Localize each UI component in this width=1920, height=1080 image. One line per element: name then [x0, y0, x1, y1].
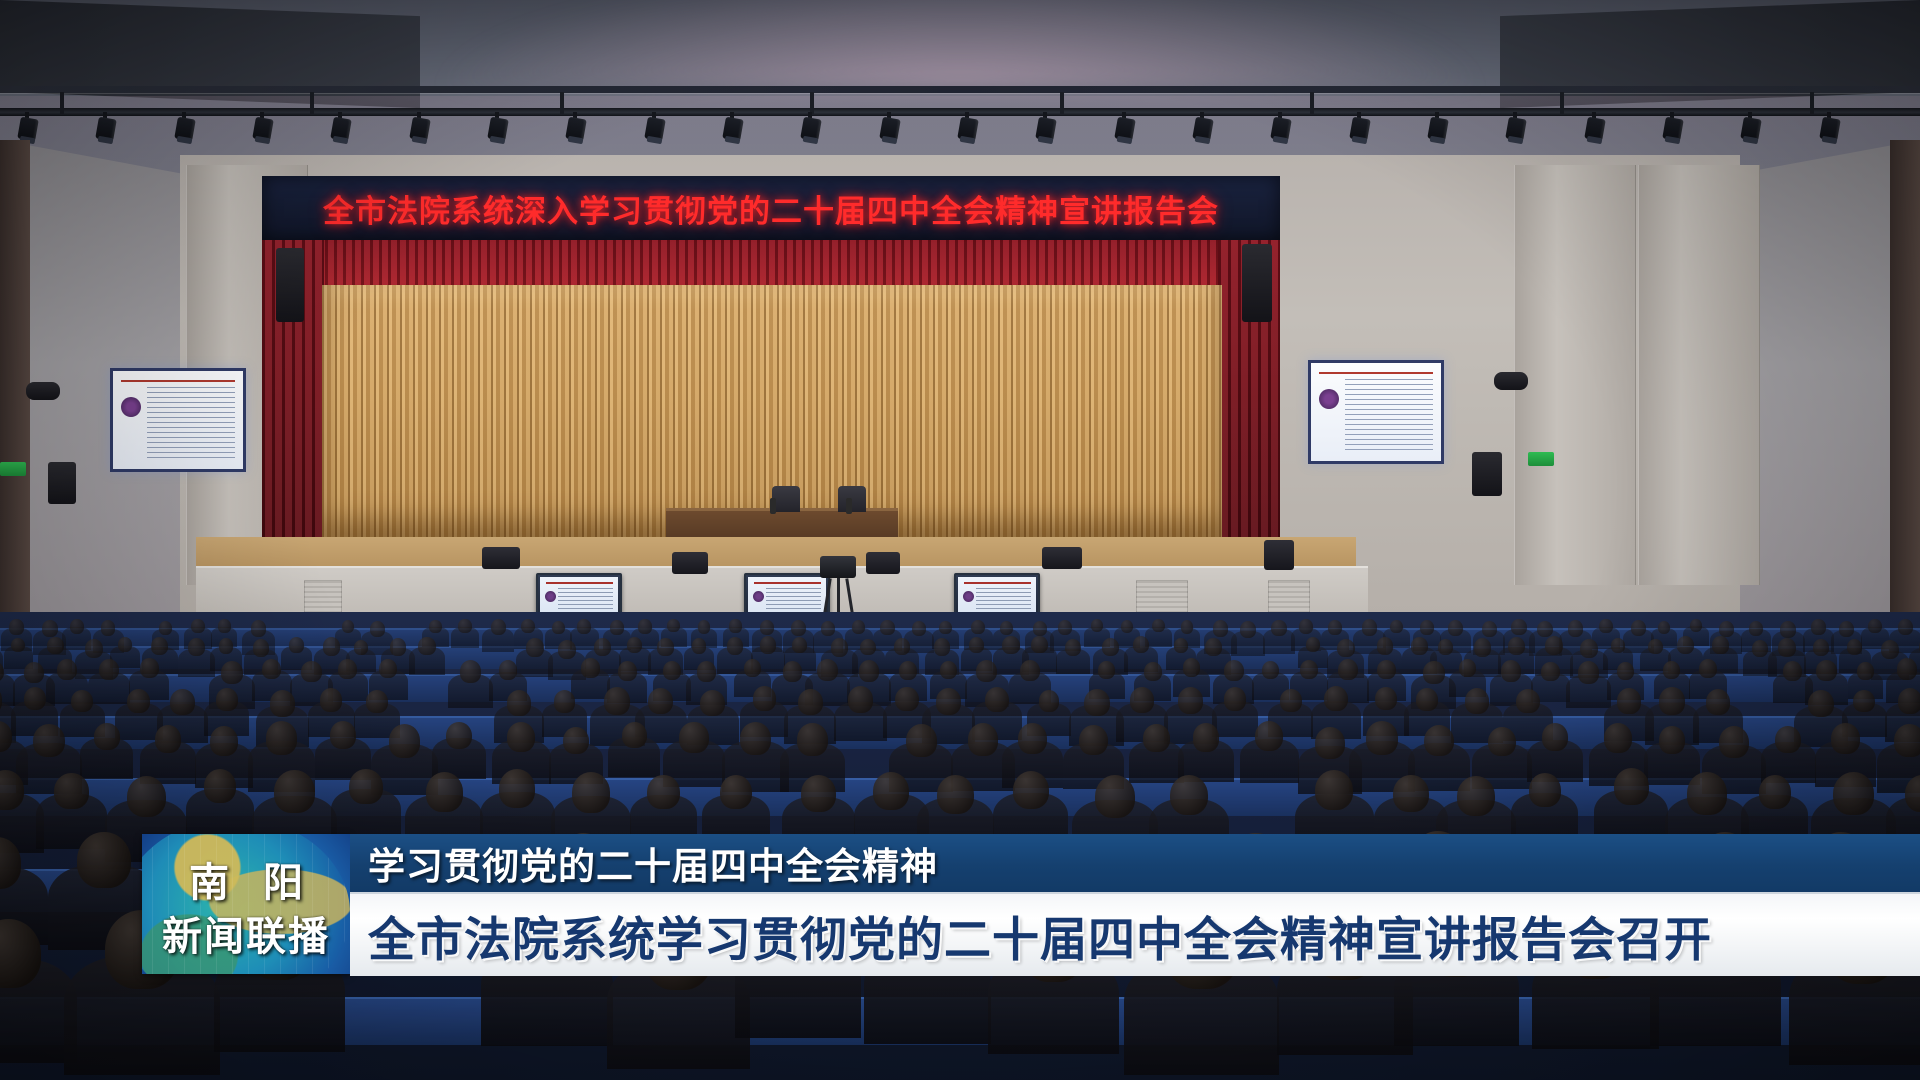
audience-member-head [976, 660, 997, 682]
audience-member-head [1271, 620, 1286, 636]
audience-member-head [1537, 621, 1553, 638]
slide-text-lines [147, 387, 235, 461]
audience-member-head [783, 661, 803, 682]
audience-member-head [370, 621, 385, 637]
audience-member-head [1079, 725, 1108, 756]
headline-text: 全市法院系统学习贯彻党的二十届四中全会精神宣讲报告会召开 [368, 901, 1712, 970]
audience-member-head [446, 722, 472, 749]
audience-member-head [491, 619, 506, 635]
truss-hanger [1810, 92, 1814, 114]
audience-member-head [1300, 660, 1318, 679]
stage-light [253, 112, 273, 146]
audience-member-head [191, 619, 204, 633]
audience-member-head [667, 619, 679, 632]
headline-bar: 全市法院系统学习贯彻党的二十届四中全会精神宣讲报告会召开 [350, 892, 1920, 976]
audience-member-head [798, 689, 823, 715]
audience-member-head [1438, 639, 1453, 655]
audience-member-head [1677, 636, 1694, 654]
stage-light [175, 112, 195, 146]
audience-member-head [1511, 619, 1526, 635]
audience-member-head [71, 690, 92, 713]
audience-member-head [1868, 619, 1882, 633]
audience-member-head [817, 659, 838, 682]
audience-member-head [1831, 723, 1860, 754]
audience-member-head [622, 722, 647, 748]
stage-light [331, 112, 351, 146]
audience-member-head [552, 621, 565, 634]
apron-vent-3 [1136, 580, 1188, 616]
audience-member-head [1183, 658, 1200, 676]
audience-member-head [389, 724, 421, 757]
audience-member-head [526, 638, 544, 657]
audience-member-head [251, 620, 267, 636]
audience-member-head [379, 659, 397, 678]
audience-member-head [577, 619, 591, 634]
audience-member-head [1783, 661, 1802, 681]
apron-vent-4 [1268, 580, 1310, 616]
audience-member-head [70, 619, 84, 634]
audience-member-head [760, 636, 776, 653]
audience-member-head [1213, 620, 1228, 636]
audience-member-head [151, 637, 168, 655]
audience-member-head [1084, 689, 1110, 717]
audience-member-head [968, 723, 999, 756]
audience-member-head [47, 637, 63, 654]
audience-member-head [912, 621, 926, 636]
audience-member-head [1375, 687, 1397, 710]
stage-light [566, 112, 586, 146]
audience-member-head [1749, 621, 1763, 636]
speaker-right-wall [1472, 452, 1502, 496]
audience-member-head [54, 773, 88, 809]
audience-member-head [1611, 638, 1626, 653]
audience-member-head [24, 687, 46, 711]
audience-member-head [77, 832, 130, 889]
audience-member-head [753, 686, 776, 710]
audience-member-head [697, 661, 717, 682]
audience-member-head [1808, 690, 1834, 717]
audience-member-head [101, 620, 116, 636]
audience-member-head [1599, 619, 1612, 633]
audience-member-head [899, 661, 917, 680]
audience-member-head [521, 619, 535, 634]
audience-member-head [852, 620, 865, 634]
audience-member-head [1306, 637, 1320, 652]
audience-member-head [554, 690, 575, 712]
audience-member-head [1813, 639, 1829, 656]
stage-light [1585, 112, 1605, 146]
audience-member-head [1020, 660, 1040, 681]
slide-text-lines [1345, 379, 1433, 453]
audience-member-head [937, 775, 974, 814]
audience-member-head [507, 690, 531, 715]
audience-member-head [971, 620, 985, 635]
audience-member-head [1712, 636, 1729, 654]
audience-member-head [1516, 689, 1539, 714]
audience-member-head [1847, 639, 1862, 655]
stage-light [1115, 112, 1135, 146]
audience-member-head [1420, 620, 1434, 635]
audience-member-head [499, 769, 535, 807]
audience-member-head [1659, 726, 1685, 754]
audience-member-head [1033, 621, 1047, 636]
audience-member-head [939, 621, 952, 634]
audience-member-head [1362, 619, 1378, 636]
audience-member-head [338, 659, 357, 679]
audience-member-head [638, 619, 651, 633]
emblem-icon [753, 591, 764, 602]
stage-banner: 全市法院系统深入学习贯彻党的二十届四中全会精神宣讲报告会 [262, 176, 1280, 240]
topic-bar: 学习贯彻党的二十届四中全会精神 [350, 834, 1920, 892]
audience-member-head [221, 661, 243, 684]
audience-member-head [1780, 621, 1796, 638]
audience-member-head [1663, 661, 1680, 679]
truss-hanger [810, 92, 814, 114]
audience-member-head [1091, 619, 1103, 632]
audience-member-head [698, 620, 710, 633]
audience-member-head [1058, 620, 1072, 635]
audience-member-head [740, 722, 772, 756]
stage-light [1036, 112, 1056, 146]
truss-hanger [310, 92, 314, 114]
audience-member-head [85, 639, 103, 658]
audience-member-head [204, 769, 236, 803]
audience-member-head [9, 619, 24, 634]
audience-member-head [1121, 620, 1134, 633]
audience-member-head [801, 775, 836, 812]
side-screen-right [1308, 360, 1444, 464]
audience-member-head [894, 638, 910, 655]
stage-light [1820, 112, 1840, 146]
audience-member-head [1690, 619, 1703, 632]
truss-hanger [1060, 92, 1064, 114]
audience-member-head [140, 658, 159, 678]
audience-member-head [1699, 659, 1717, 678]
audience-member-head [24, 662, 44, 683]
audience-member-head [1459, 659, 1476, 677]
audience-member-head [1529, 773, 1561, 807]
audience-member-head [94, 723, 119, 750]
audience-member-head [727, 637, 744, 655]
audience-member-head [1133, 636, 1149, 653]
stage-light [1271, 112, 1291, 146]
truss-hanger [60, 92, 64, 114]
audience-member-head [216, 688, 237, 711]
audience-member-head [458, 619, 471, 633]
floor-monitor-3 [866, 552, 900, 574]
audience-member-head [1224, 687, 1246, 711]
side-screen-left [110, 368, 246, 472]
audience-member-head [1541, 662, 1559, 681]
audience-member-head [936, 688, 961, 715]
audience-member-head [1424, 725, 1454, 757]
audience-member-head [274, 770, 314, 813]
wall-panel-2 [1514, 165, 1636, 585]
floor-monitor-1 [482, 547, 520, 569]
audience-member-head [1474, 638, 1491, 656]
audience-member-head [1482, 621, 1497, 637]
audience-member-head [1324, 686, 1348, 711]
exit-sign-left [0, 462, 26, 476]
audience-member-head [1193, 723, 1220, 751]
audience-member-head [985, 687, 1009, 712]
audience-member-head [1240, 621, 1256, 638]
broadcast-frame: 全市法院系统深入学习贯彻党的二十届四中全会精神宣讲报告会 [0, 0, 1920, 1080]
audience-member-head [940, 661, 958, 680]
stage-light [1506, 112, 1526, 146]
stage-light [1193, 112, 1213, 146]
table-mic-1 [770, 498, 776, 514]
audience-member-head [429, 620, 441, 633]
audience-member-head [1648, 639, 1663, 654]
truss-hanger [1310, 92, 1314, 114]
audience-member-head [1013, 771, 1049, 809]
stage-light [488, 112, 508, 146]
audience-member-head [906, 724, 937, 756]
audience-member-head [170, 689, 194, 715]
audience-member-head [1706, 689, 1730, 714]
stage-light [1428, 112, 1448, 146]
audience-member-head [1152, 619, 1165, 633]
audience-member-head [558, 640, 576, 659]
audience-member-head [218, 619, 231, 632]
stage-banner-text: 全市法院系统深入学习贯彻党的二十届四中全会精神宣讲报告会 [323, 186, 1219, 231]
lower-third: 南 阳 新闻联播 学习贯彻党的二十届四中全会精神 全市法院系统学习贯彻党的二十届… [142, 834, 1920, 974]
channel-logo-line2: 新闻联播 [142, 904, 350, 962]
stage-light [96, 112, 116, 146]
audience-member-head [262, 659, 281, 679]
audience-member-head [507, 722, 535, 752]
audience-member-head [342, 620, 354, 633]
audience-member-head [1881, 640, 1899, 659]
audience-member-head [1759, 775, 1791, 809]
speaker-right-upper [1242, 244, 1272, 322]
audience-member-head [1181, 620, 1194, 633]
audience-member-head [127, 776, 166, 817]
audience-member-head [1170, 775, 1208, 815]
audience-member-head [42, 620, 58, 637]
audience-member-head [1411, 637, 1428, 655]
audience-member-head [1508, 637, 1525, 655]
audience-member-head [1130, 687, 1155, 713]
audience-member-head [1614, 768, 1649, 805]
audience-member-head [1031, 636, 1047, 653]
exit-sign-right [1528, 452, 1554, 466]
audience-member-head [1811, 619, 1826, 635]
audience-member-head [1457, 776, 1495, 816]
audience-member-head [1448, 620, 1463, 636]
audience-member-head [366, 690, 388, 713]
audience-member-head [1366, 721, 1398, 754]
audience-member-head [301, 661, 321, 683]
audience-member-head [1205, 638, 1222, 656]
audience-member-head [1465, 688, 1489, 714]
audience-member-head [1857, 662, 1874, 680]
chair-2 [838, 486, 866, 512]
audience-member-head [848, 686, 873, 712]
audience-member-head [1039, 690, 1060, 712]
audience-member-head [57, 659, 77, 680]
audience-member-head [1752, 640, 1768, 657]
audience-member-head [657, 638, 674, 656]
audience-member-head [1178, 687, 1204, 714]
audience-member-head [1578, 661, 1599, 683]
audience-member-head [188, 638, 205, 656]
slide-title-bar [1319, 372, 1433, 374]
audience-member-head [663, 661, 681, 680]
audience-member-head [1898, 619, 1913, 635]
audience-member-head [627, 637, 642, 653]
audience-member-head [1894, 724, 1920, 757]
audience-member-head [1658, 621, 1670, 634]
audience-member-head [320, 688, 342, 712]
audience-member-head [210, 726, 238, 755]
audience-member-head [1065, 639, 1081, 656]
audience-member-head [1000, 621, 1013, 635]
audience-member-head [289, 637, 304, 653]
slide-title-bar [121, 380, 235, 382]
monitor-left-small [26, 382, 60, 400]
audience-member-head [1617, 662, 1634, 680]
audience-member-head [270, 690, 296, 717]
audience-member-head [895, 687, 918, 712]
audience-member-head [581, 658, 599, 678]
audience-member-head [610, 620, 624, 634]
stage-light [1663, 112, 1683, 146]
audience-member-head [460, 660, 481, 683]
audience-member-head [1098, 661, 1115, 679]
audience-member-head [155, 725, 182, 753]
stage-light [958, 112, 978, 146]
truss-hanger [560, 92, 564, 114]
audience-member-head [1143, 724, 1170, 752]
audience-member-head [647, 775, 679, 809]
audience-member-head [219, 638, 234, 654]
audience-member-head [426, 772, 463, 811]
audience-member-head [821, 621, 835, 636]
audience-member-head [720, 775, 752, 809]
ceiling-beam-upper [0, 86, 1920, 93]
topic-text: 学习贯彻党的二十届四中全会精神 [368, 836, 938, 890]
audience-member-head [1545, 636, 1563, 655]
audience-member-head [604, 687, 630, 715]
table-mic-2 [846, 498, 852, 514]
floor-monitor-4 [1042, 547, 1082, 569]
audience-member-head [1255, 721, 1283, 751]
audience-member-head [859, 660, 880, 682]
audience-member-head [266, 721, 298, 755]
audience-member-head [792, 637, 807, 653]
audience-member-head [1853, 690, 1875, 713]
stage-light [880, 112, 900, 146]
audience-member-head [1778, 638, 1796, 657]
audience-member-head [873, 772, 909, 810]
wall-panel-3 [1638, 165, 1760, 585]
audience-member-head [1775, 726, 1801, 753]
audience-member-head [418, 637, 435, 655]
channel-logo-line1: 南 阳 [142, 850, 350, 908]
audience-member-head [1617, 688, 1641, 713]
audience-member-head [1687, 772, 1727, 814]
audience-member-head [1095, 775, 1136, 818]
audience-member-head [127, 689, 150, 713]
laptop-screen-3 [958, 577, 1036, 617]
audience-member-head [253, 639, 269, 656]
stage-light [645, 112, 665, 146]
audience-member-head [1488, 727, 1516, 757]
laptop-screen-1 [540, 577, 618, 617]
audience-member-head [1501, 660, 1521, 682]
audience-member-head [563, 727, 589, 754]
audience-member-head [1631, 620, 1646, 636]
channel-logo: 南 阳 新闻联播 [142, 834, 350, 974]
audience-member-head [1719, 621, 1734, 637]
audience-member-head [572, 772, 610, 813]
audience-member-head [1423, 661, 1445, 684]
apron-vent-1 [304, 580, 342, 616]
audience-member-head [1390, 620, 1403, 633]
audience-member-head [1659, 687, 1685, 714]
audience-member-head [1833, 772, 1874, 815]
stage-light [1350, 112, 1370, 146]
audience-member-head [618, 661, 637, 681]
audience-member-head [594, 638, 611, 656]
audience-member-head [679, 722, 708, 753]
audience-member-head [118, 637, 132, 652]
audience-member-head [860, 639, 876, 656]
floor-monitor-5 [1264, 540, 1294, 570]
audience-member-head [159, 621, 172, 635]
audience-member-head [880, 620, 894, 635]
speaker-left-upper [276, 248, 304, 322]
audience-member-head [1568, 620, 1584, 636]
audience-member-head [1262, 661, 1280, 680]
audience-member-head [1337, 639, 1355, 658]
audience-member-head [1174, 638, 1188, 653]
audience-member-head [791, 620, 806, 636]
audience-member-head [700, 690, 725, 716]
emblem-icon [963, 591, 974, 602]
audience-member-head [969, 637, 984, 653]
audience-member-head [760, 620, 774, 635]
audience-member-head [33, 724, 65, 757]
audience-member-head [1315, 727, 1345, 759]
audience-member-head [1280, 689, 1301, 712]
audience-member-head [1898, 688, 1920, 714]
audience-member-head [1897, 658, 1917, 679]
audience-member-head [1002, 636, 1019, 654]
stage-light [1741, 112, 1761, 146]
truss-hanger [1560, 92, 1564, 114]
audience-member-head [1102, 638, 1119, 656]
audience-member-head [323, 637, 340, 655]
chair-1 [772, 486, 800, 512]
stage-light [410, 112, 430, 146]
audience-member-head [1377, 660, 1396, 680]
audience-member-head [729, 619, 741, 632]
audience-member-head [1416, 688, 1438, 711]
camera-icon [820, 556, 856, 578]
audience-member-head [744, 659, 761, 677]
audience-member-head [1393, 775, 1428, 812]
monitor-right-small [1494, 372, 1528, 390]
audience-member-head [1224, 660, 1244, 681]
audience-member-head [797, 723, 828, 756]
audience-member-head [1315, 770, 1353, 810]
audience-member-head [648, 688, 673, 714]
audience-member-head [1542, 723, 1569, 751]
floor-monitor-2 [672, 552, 708, 574]
